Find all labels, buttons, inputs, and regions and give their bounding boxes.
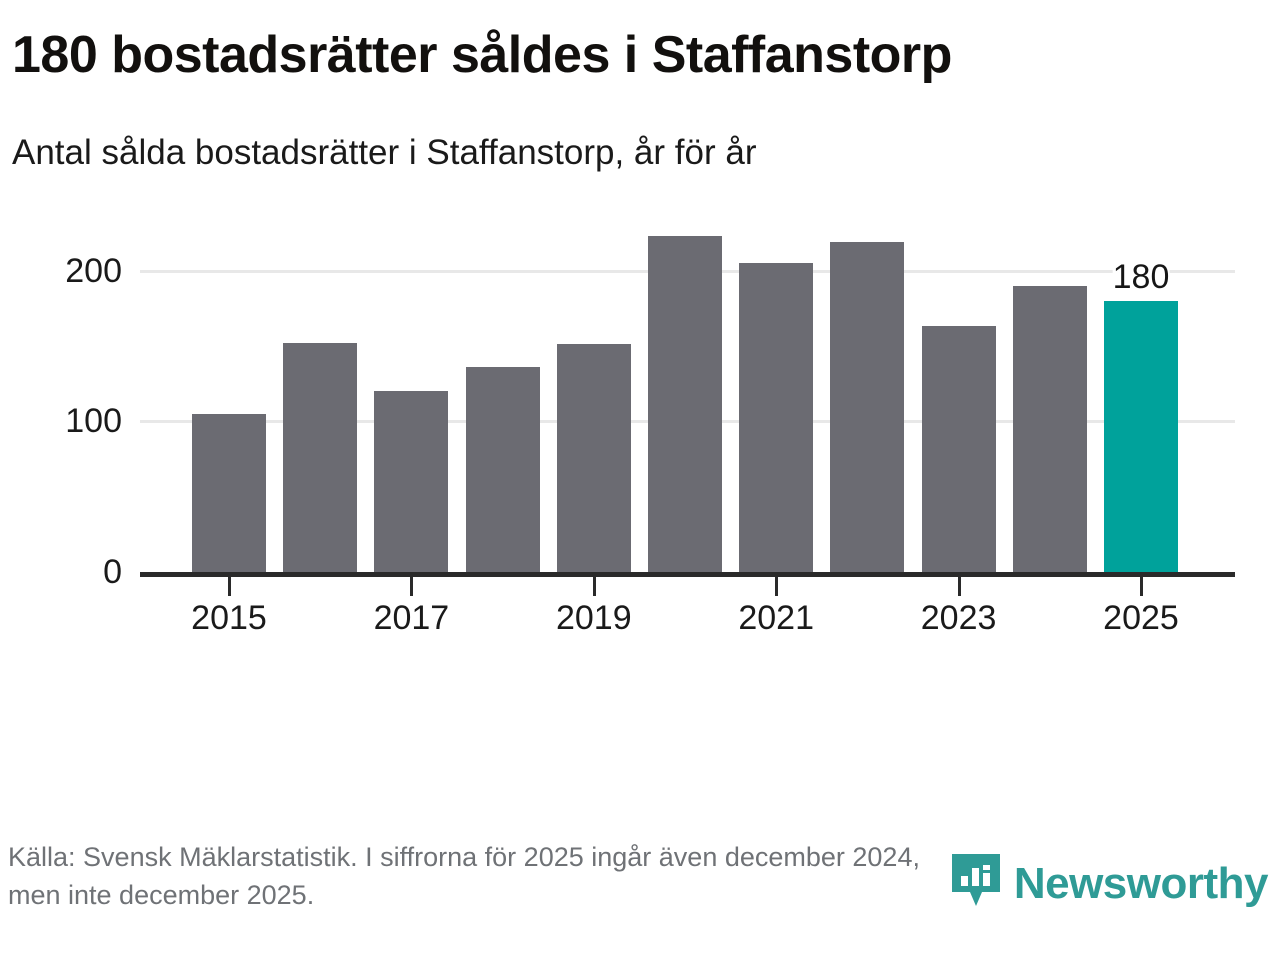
x-axis-tick-label: 2021	[696, 601, 856, 635]
newsworthy-pin-bars-icon	[948, 852, 1004, 916]
x-axis-tick	[228, 577, 231, 596]
x-axis-tick	[775, 577, 778, 596]
bar-2023[interactable]	[922, 326, 996, 571]
x-axis-line	[140, 572, 1235, 577]
x-axis-tick-label: 2025	[1061, 601, 1221, 635]
page-title: 180 bostadsrätter såldes i Staffanstorp	[12, 28, 1256, 82]
bar-2022[interactable]	[830, 242, 904, 572]
bar-2024[interactable]	[1013, 286, 1087, 572]
bar-2021[interactable]	[739, 263, 813, 572]
x-axis-tick	[593, 577, 596, 596]
x-axis-tick	[958, 577, 961, 596]
x-axis-tick-label: 2019	[514, 601, 674, 635]
x-axis-tick	[410, 577, 413, 596]
x-axis-tick-label: 2023	[879, 601, 1039, 635]
bar-2019[interactable]	[557, 344, 631, 571]
bar-series: 180	[0, 183, 1280, 743]
bar-value-label: 180	[1113, 260, 1170, 301]
x-axis-tick	[1140, 577, 1143, 596]
bar-2020[interactable]	[648, 236, 722, 572]
chart-footer: Källa: Svensk Mäklarstatistik. I siffror…	[0, 830, 1280, 960]
bar-chart: 0100200 180 201520172019202120232025	[0, 183, 1280, 743]
bar-2017[interactable]	[374, 391, 448, 572]
newsworthy-logo: Newsworthy	[948, 852, 1268, 916]
bar-2015[interactable]	[192, 414, 266, 572]
bar-2018[interactable]	[466, 367, 540, 572]
bar-2025[interactable]: 180	[1104, 301, 1178, 572]
chart-subtitle: Antal sålda bostadsrätter i Staffanstorp…	[12, 134, 1256, 173]
x-axis-tick-label: 2015	[149, 601, 309, 635]
bar-2016[interactable]	[283, 343, 357, 572]
chart-page: 180 bostadsrätter såldes i Staffanstorp …	[0, 0, 1280, 960]
x-axis-tick-label: 2017	[331, 601, 491, 635]
chart-header: 180 bostadsrätter såldes i Staffanstorp …	[0, 0, 1280, 173]
newsworthy-wordmark: Newsworthy	[1014, 862, 1268, 906]
